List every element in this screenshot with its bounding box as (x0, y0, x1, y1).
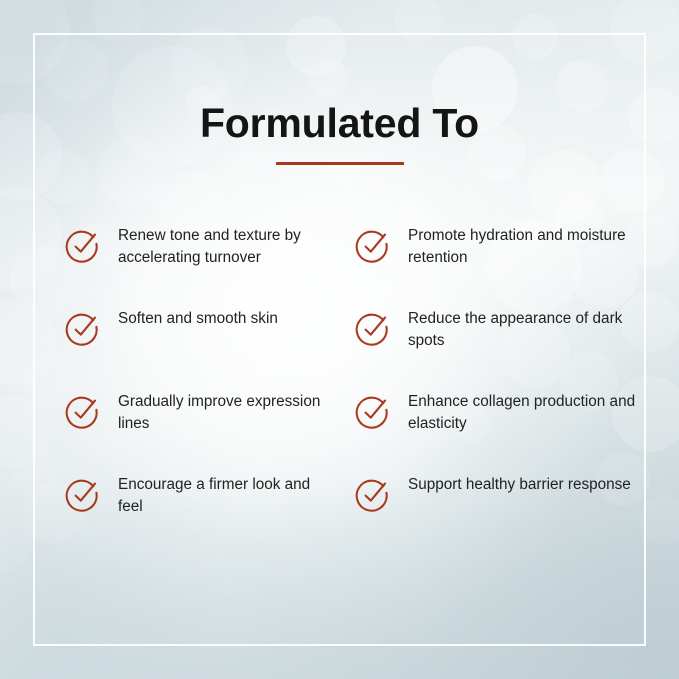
check-circle-icon (65, 394, 101, 430)
formulated-to-poster: Formulated To Renew tone and texture by … (0, 0, 679, 679)
list-item: Support healthy barrier response (355, 473, 645, 556)
list-item-label: Support healthy barrier response (408, 473, 631, 496)
check-circle-icon (65, 477, 101, 513)
list-item-label: Reduce the appearance of dark spots (408, 307, 640, 353)
list-item-label: Encourage a firmer look and feel (118, 473, 338, 519)
check-circle-icon (355, 477, 391, 513)
title-underline (276, 162, 404, 165)
page-title: Formulated To (0, 103, 679, 144)
check-circle-icon (355, 311, 391, 347)
check-circle-icon (355, 394, 391, 430)
list-item-label: Gradually improve expression lines (118, 390, 338, 436)
list-item: Enhance collagen production and elastici… (355, 390, 645, 473)
benefits-grid: Renew tone and texture by accelerating t… (0, 224, 679, 556)
benefits-column-right: Promote hydration and moisture retention… (355, 224, 645, 556)
list-item-label: Promote hydration and moisture retention (408, 224, 640, 270)
benefits-column-left: Renew tone and texture by accelerating t… (65, 224, 355, 556)
list-item-label: Soften and smooth skin (118, 307, 278, 330)
poster-content: Formulated To Renew tone and texture by … (0, 0, 679, 679)
list-item: Reduce the appearance of dark spots (355, 307, 645, 390)
check-circle-icon (65, 228, 101, 264)
list-item: Gradually improve expression lines (65, 390, 355, 473)
list-item: Renew tone and texture by accelerating t… (65, 224, 355, 307)
list-item: Promote hydration and moisture retention (355, 224, 645, 307)
list-item-label: Renew tone and texture by accelerating t… (118, 224, 338, 270)
list-item: Encourage a firmer look and feel (65, 473, 355, 556)
check-circle-icon (355, 228, 391, 264)
list-item-label: Enhance collagen production and elastici… (408, 390, 640, 436)
check-circle-icon (65, 311, 101, 347)
list-item: Soften and smooth skin (65, 307, 355, 390)
